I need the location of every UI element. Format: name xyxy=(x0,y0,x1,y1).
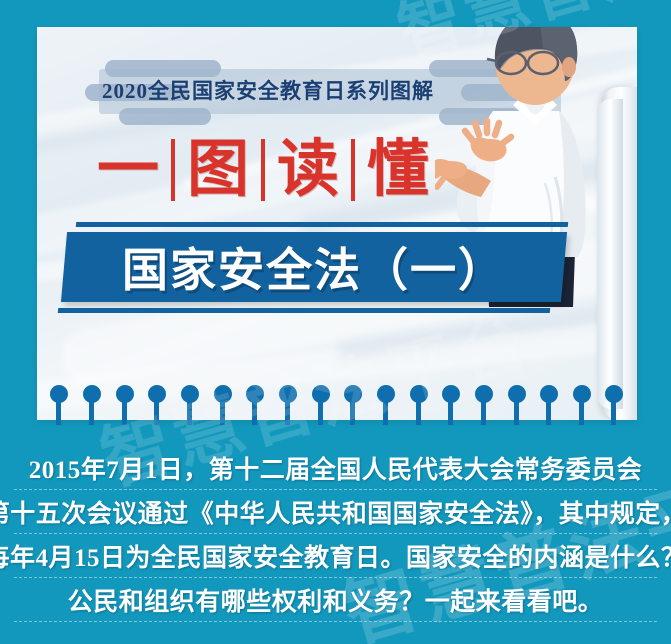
pin xyxy=(50,385,68,425)
pin-stem xyxy=(546,398,551,425)
pin-stem xyxy=(318,398,323,425)
pin-stem xyxy=(252,398,257,425)
headline-separator xyxy=(171,139,175,201)
banner-title: 国家安全法（一） xyxy=(64,232,564,302)
pin xyxy=(246,385,264,425)
pin xyxy=(442,385,460,425)
pin-stem xyxy=(481,398,486,425)
headline-separator xyxy=(351,139,355,201)
pin-stem xyxy=(154,398,159,425)
pin-stem xyxy=(579,398,584,425)
pin xyxy=(148,385,166,425)
pin-stem xyxy=(448,398,453,425)
pin-stem xyxy=(285,398,290,425)
pin xyxy=(214,385,232,425)
page-curl-inner xyxy=(597,99,623,409)
body-line: 每年4月15日为全民国家安全教育日。国家安全的内涵是什么？ xyxy=(0,534,671,578)
pin xyxy=(573,385,591,425)
title-banner: 国家安全法（一） xyxy=(58,222,570,318)
banner-rule-bottom xyxy=(58,308,550,313)
poster-headline: 一 图 读 懂 xyxy=(87,139,439,201)
headline-char-3: 读 xyxy=(267,139,349,201)
pin-stem xyxy=(514,398,519,425)
pin xyxy=(377,385,395,425)
pin xyxy=(312,385,330,425)
pin-stem xyxy=(350,398,355,425)
headline-char-1: 一 xyxy=(87,139,169,201)
pin-stem xyxy=(416,398,421,425)
pin xyxy=(344,385,362,425)
headline-char-4: 懂 xyxy=(357,139,439,201)
banner-rule-top xyxy=(76,222,568,227)
pin xyxy=(181,385,199,425)
poster-subtitle: 2020全民国家安全教育日系列图解 xyxy=(37,75,499,105)
pin xyxy=(475,385,493,425)
pin xyxy=(540,385,558,425)
pin xyxy=(83,385,101,425)
pin xyxy=(279,385,297,425)
pin xyxy=(508,385,526,425)
pin-stem xyxy=(89,398,94,425)
pin-stem xyxy=(122,398,127,425)
pin-row xyxy=(37,385,637,431)
pin xyxy=(605,385,623,425)
pin-stem xyxy=(611,398,616,425)
headline-char-2: 图 xyxy=(177,139,259,201)
body-line: 公民和组织有哪些权利和义务？一起来看看吧。 xyxy=(0,578,671,622)
pin-stem xyxy=(56,398,61,425)
body-line: 2015年7月1日，第十二届全国人民代表大会常务委员会 xyxy=(0,446,671,490)
pin-stem xyxy=(187,398,192,425)
body-line: 第十五次会议通过《中华人民共和国国家安全法》，其中规定， xyxy=(0,490,671,534)
pin xyxy=(116,385,134,425)
body-text-block: 2015年7月1日，第十二届全国人民代表大会常务委员会 第十五次会议通过《中华人… xyxy=(0,446,671,622)
pin-stem xyxy=(383,398,388,425)
cloud-bar-left xyxy=(119,108,211,125)
pin-stem xyxy=(220,398,225,425)
pin xyxy=(410,385,428,425)
headline-separator xyxy=(261,139,265,201)
